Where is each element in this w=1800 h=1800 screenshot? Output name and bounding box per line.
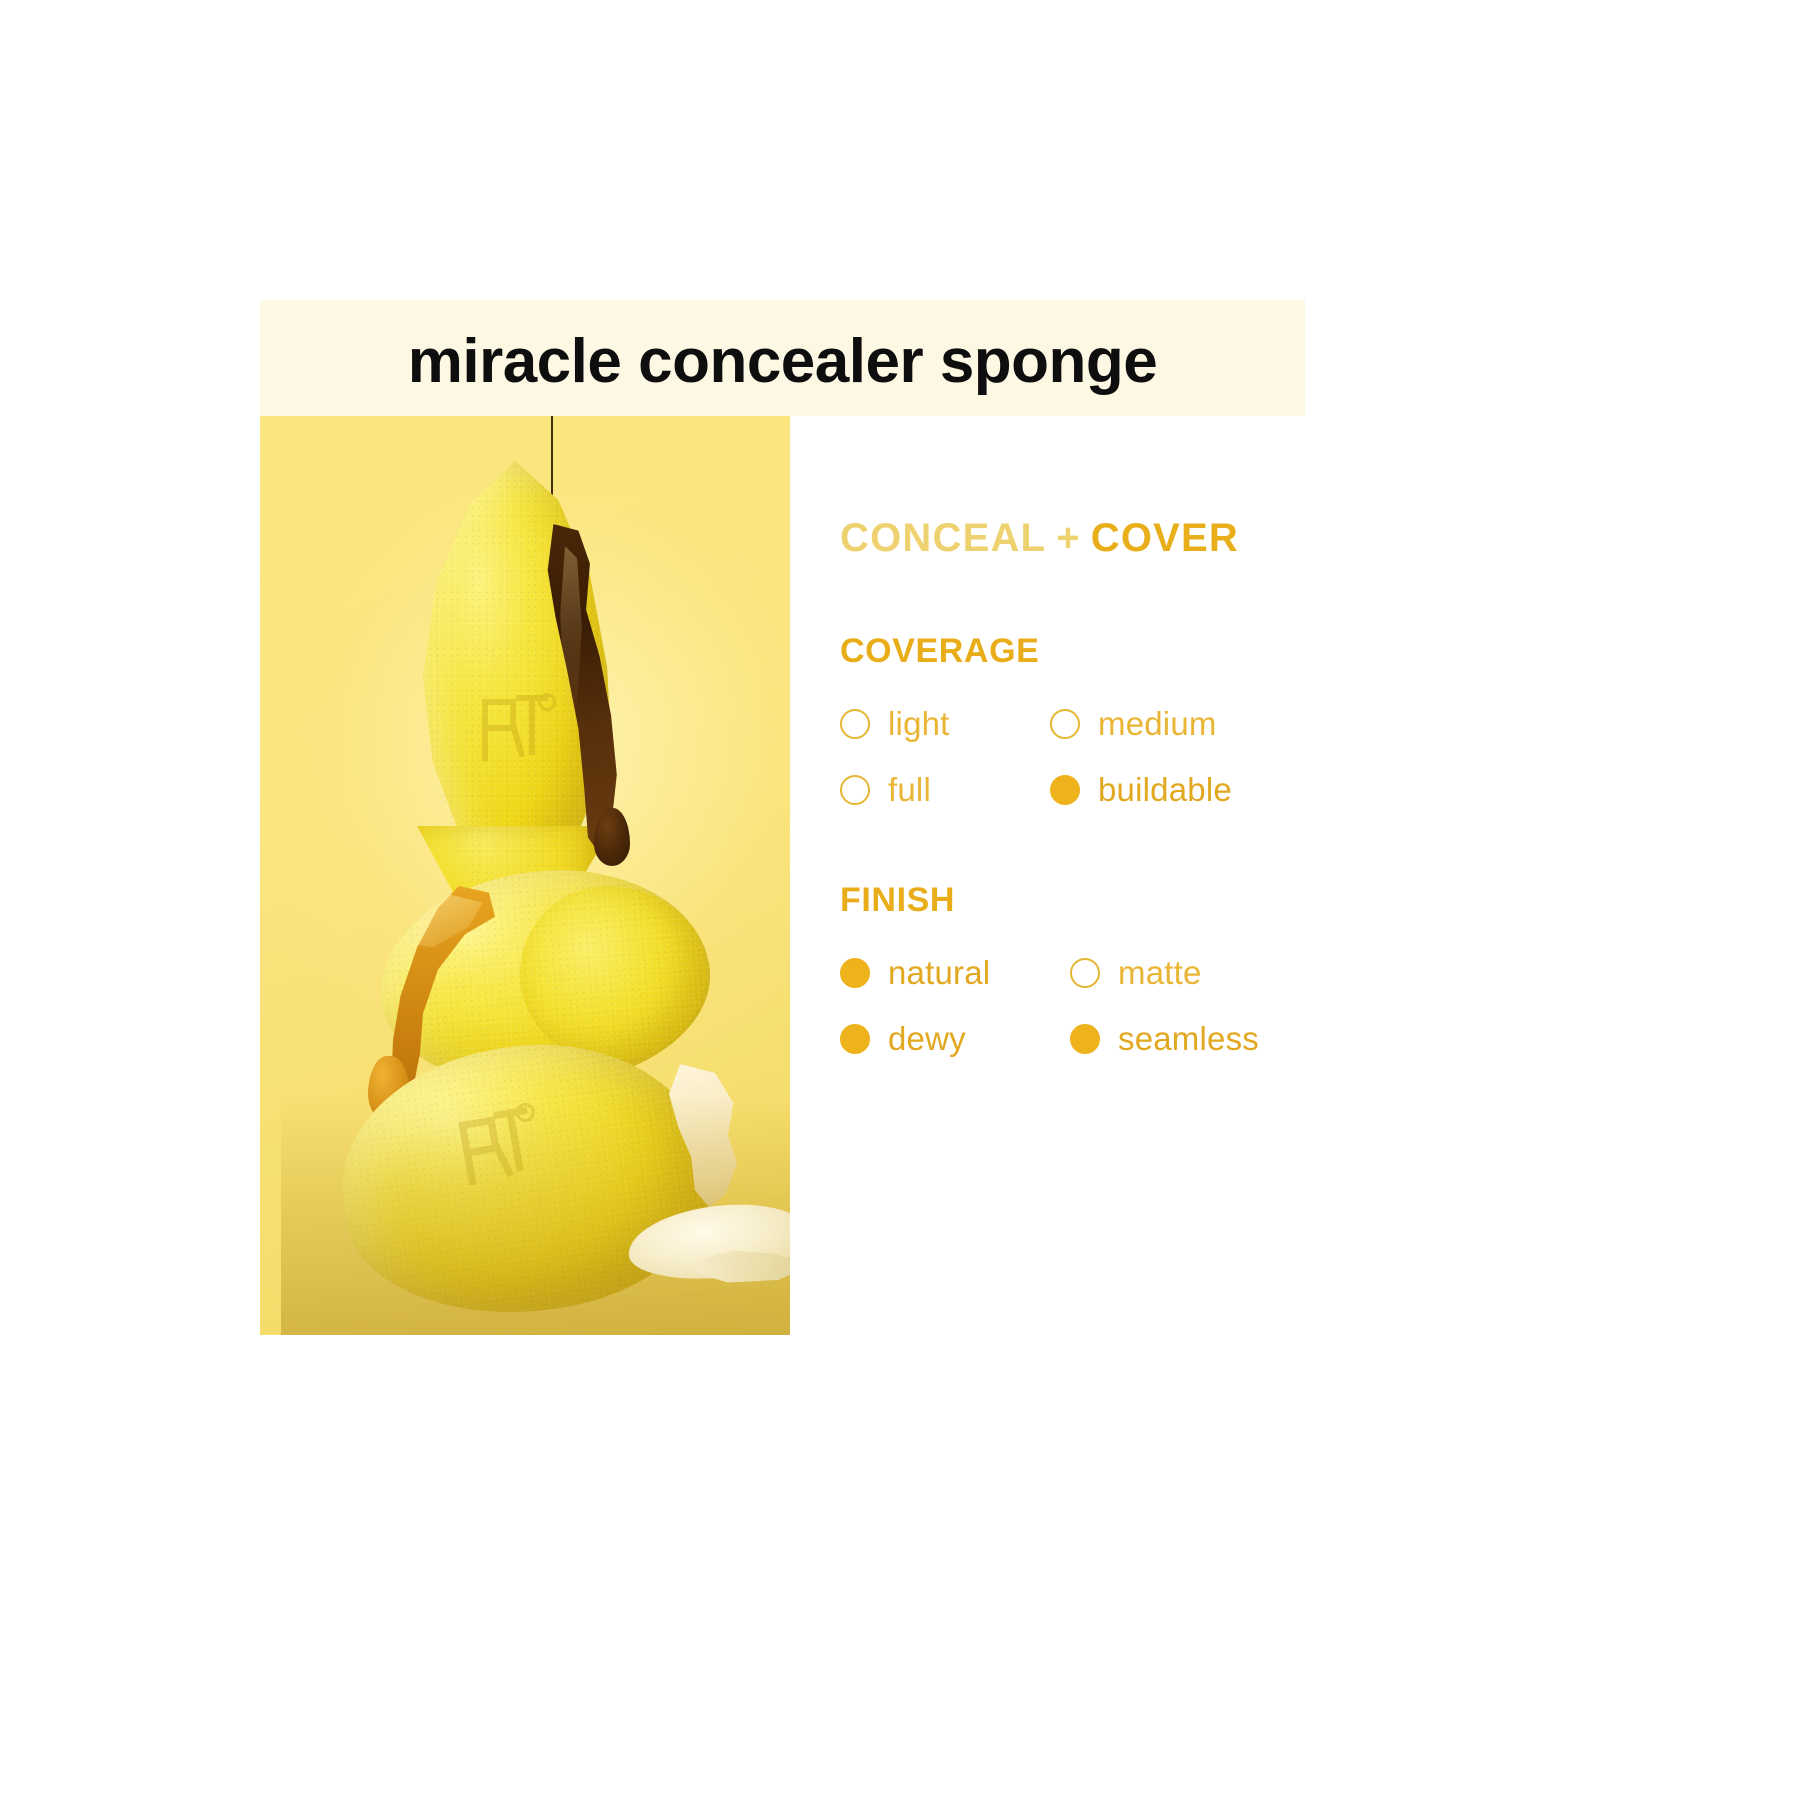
headline-part-cover: COVER [1091, 516, 1239, 560]
coverage-option-light[interactable]: light [840, 705, 1050, 743]
headline-conceal-cover: CONCEAL+COVER [840, 516, 1400, 560]
radio-selected-icon[interactable] [840, 958, 870, 988]
page-title: miracle concealer sponge [408, 331, 1158, 393]
coverage-option-label: buildable [1098, 771, 1232, 809]
coverage-option-buildable[interactable]: buildable [1050, 771, 1400, 809]
product-details-panel: CONCEAL+COVER COVERAGE light medium full [840, 516, 1400, 1058]
radio-unselected-icon[interactable] [840, 709, 870, 739]
radio-unselected-icon[interactable] [840, 775, 870, 805]
radio-selected-icon[interactable] [1070, 1024, 1100, 1054]
product-photo [260, 416, 790, 1335]
title-banner: miracle concealer sponge [260, 300, 1305, 416]
rt-brand-emboss-top [476, 691, 554, 777]
radio-selected-icon[interactable] [840, 1024, 870, 1054]
coverage-option-label: medium [1098, 705, 1217, 743]
coverage-section: COVERAGE light medium full buildable [840, 632, 1400, 809]
finish-option-label: matte [1118, 954, 1202, 992]
finish-option-label: seamless [1118, 1020, 1259, 1058]
finish-option-label: natural [888, 954, 990, 992]
radio-selected-icon[interactable] [1050, 775, 1080, 805]
finish-options: natural matte dewy seamless [840, 954, 1400, 1058]
finish-heading: FINISH [840, 881, 1400, 920]
coverage-options: light medium full buildable [840, 705, 1400, 809]
finish-option-dewy[interactable]: dewy [840, 1020, 1070, 1058]
infographic-canvas: miracle concealer sponge [0, 0, 1800, 1800]
finish-section: FINISH natural matte dewy seamless [840, 881, 1400, 1058]
finish-option-label: dewy [888, 1020, 966, 1058]
coverage-heading: COVERAGE [840, 632, 1400, 671]
headline-plus: + [1046, 516, 1091, 560]
coverage-option-full[interactable]: full [840, 771, 1050, 809]
finish-option-seamless[interactable]: seamless [1070, 1020, 1400, 1058]
radio-unselected-icon[interactable] [1050, 709, 1080, 739]
radio-unselected-icon[interactable] [1070, 958, 1100, 988]
headline-part-conceal: CONCEAL [840, 516, 1046, 560]
coverage-option-medium[interactable]: medium [1050, 705, 1400, 743]
finish-option-matte[interactable]: matte [1070, 954, 1400, 992]
coverage-option-label: full [888, 771, 931, 809]
finish-option-natural[interactable]: natural [840, 954, 1070, 992]
coverage-option-label: light [888, 705, 950, 743]
